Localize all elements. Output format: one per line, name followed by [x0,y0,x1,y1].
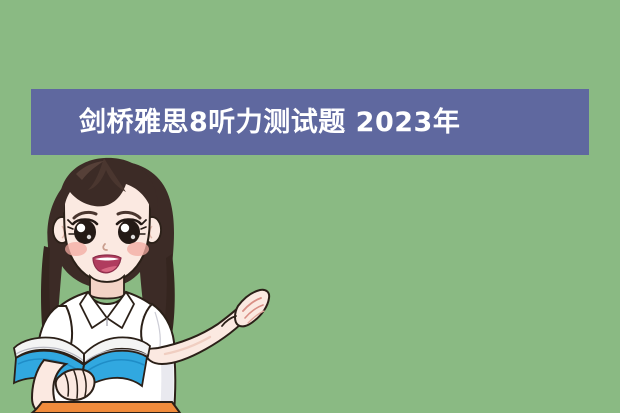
skirt-group [24,402,188,413]
title-banner: 剑桥雅思8听力测试题 2023年 [31,89,589,155]
image-canvas: 剑桥雅思8听力测试题 2023年 [0,0,620,413]
student-illustration [0,148,320,413]
page-title: 剑桥雅思8听力测试题 2023年 [79,109,460,136]
